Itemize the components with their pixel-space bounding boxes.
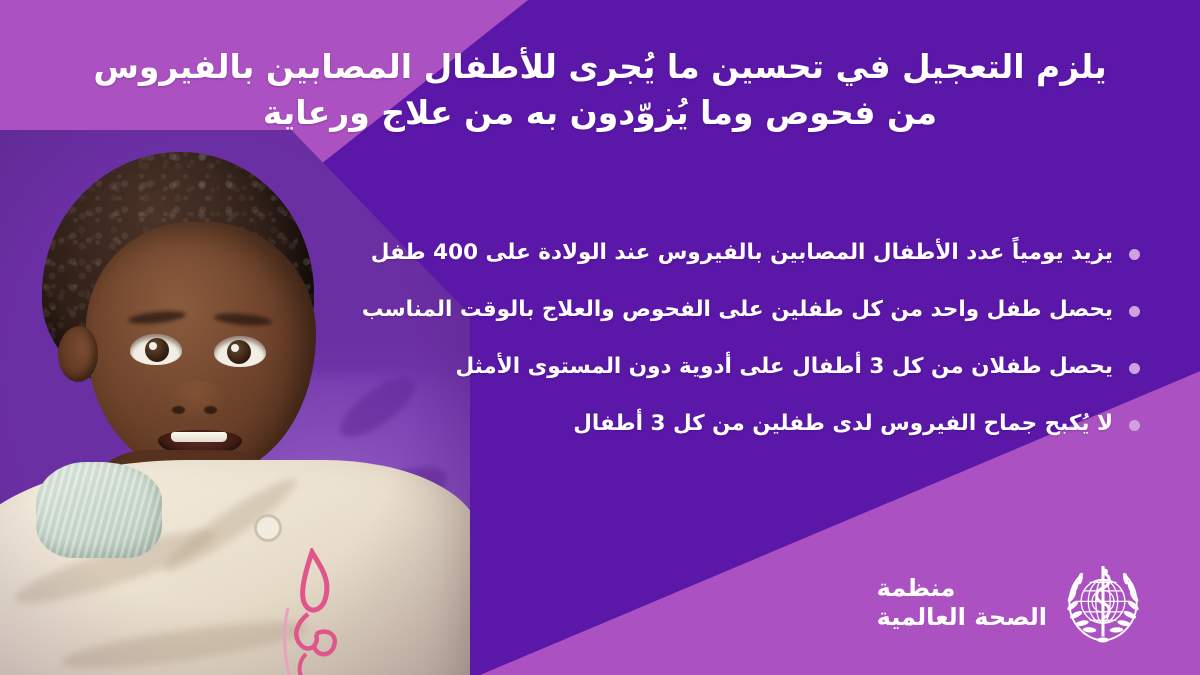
- list-item: يزيد يومياً عدد الأطفال المصابين بالفيرو…: [40, 233, 1140, 273]
- bullet-list: يزيد يومياً عدد الأطفال المصابين بالفيرو…: [40, 233, 1140, 461]
- garment-snap: [254, 514, 282, 542]
- who-logo: منظمة الصحة العالمية: [877, 561, 1145, 645]
- collar-stripes: [36, 462, 162, 558]
- who-logo-text: منظمة الصحة العالمية: [877, 574, 1047, 633]
- list-item: يحصل طفل واحد من كل طفلين على الفحوص وال…: [40, 290, 1140, 330]
- who-logo-line-1: منظمة: [877, 574, 1047, 603]
- headline-line-2: من فحوص وما يُزوّدون به من علاج ورعاية: [28, 90, 1172, 136]
- bullet-text: يحصل طفل واحد من كل طفلين على الفحوص وال…: [362, 297, 1113, 324]
- bullet-text: يزيد يومياً عدد الأطفال المصابين بالفيرو…: [371, 240, 1113, 267]
- bullet-dot-icon: [1129, 249, 1140, 260]
- pink-embroidery-motif: [268, 548, 354, 675]
- poster-root: يلزم التعجيل في تحسين ما يُجرى للأطفال ا…: [0, 0, 1200, 675]
- bullet-text: يحصل طفلان من كل 3 أطفال على أدوية دون ا…: [455, 354, 1113, 381]
- page-title: يلزم التعجيل في تحسين ما يُجرى للأطفال ا…: [28, 44, 1172, 135]
- bullet-text: لا يُكبح جماح الفيروس لدى طفلين من كل 3 …: [573, 411, 1113, 438]
- bullet-dot-icon: [1129, 306, 1140, 317]
- baby-collar: [36, 462, 162, 558]
- list-item: لا يُكبح جماح الفيروس لدى طفلين من كل 3 …: [40, 404, 1140, 444]
- list-item: يحصل طفلان من كل 3 أطفال على أدوية دون ا…: [40, 347, 1140, 387]
- who-emblem-icon: [1061, 561, 1145, 645]
- headline-line-1: يلزم التعجيل في تحسين ما يُجرى للأطفال ا…: [28, 44, 1172, 90]
- bullet-dot-icon: [1129, 420, 1140, 431]
- who-logo-line-2: الصحة العالمية: [877, 603, 1047, 632]
- bullet-dot-icon: [1129, 363, 1140, 374]
